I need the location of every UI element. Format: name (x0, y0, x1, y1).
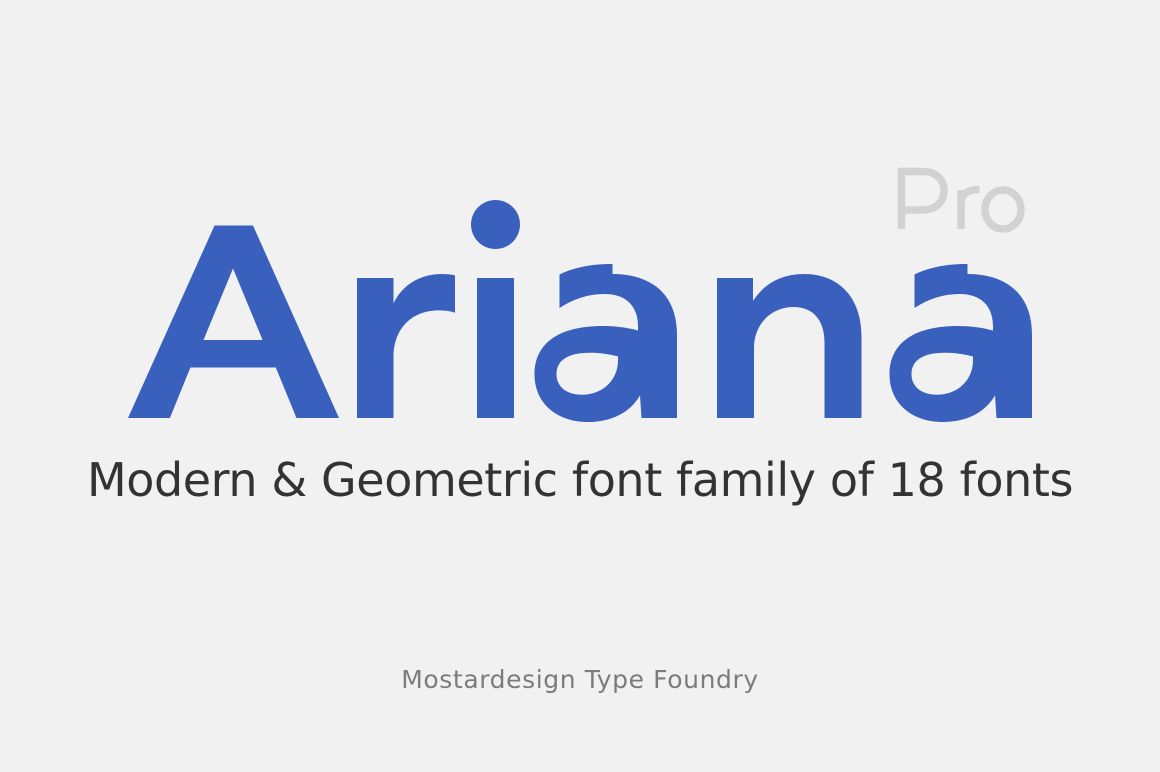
glyph-i-dot (471, 200, 520, 249)
glyph-i-stem (477, 278, 514, 418)
glyph-a-first (535, 264, 678, 422)
wordmark-glyph-group (128, 200, 1032, 422)
wordmark-superscript-pro: Pro (893, 167, 1023, 233)
wordmark-block: Ariana (0, 0, 1160, 470)
glyph-r-small (961, 189, 980, 229)
foundry-credit-text: Mostardesign Type Foundry (401, 665, 759, 694)
glyph-P (902, 172, 945, 230)
pro-glyph-group (902, 172, 1022, 230)
glyph-o-small (985, 190, 1021, 229)
tagline-text: Modern & Geometric font family of 18 fon… (87, 453, 1073, 507)
foundry-credit: Mostardesign Type Foundry (0, 658, 1160, 702)
glyph-n (717, 274, 862, 418)
glyph-a-second (890, 264, 1033, 422)
font-specimen-poster: Ariana (0, 0, 1160, 772)
glyph-A (128, 226, 339, 419)
tagline: Modern & Geometric font family of 18 fon… (0, 452, 1160, 512)
glyph-r (357, 274, 455, 418)
